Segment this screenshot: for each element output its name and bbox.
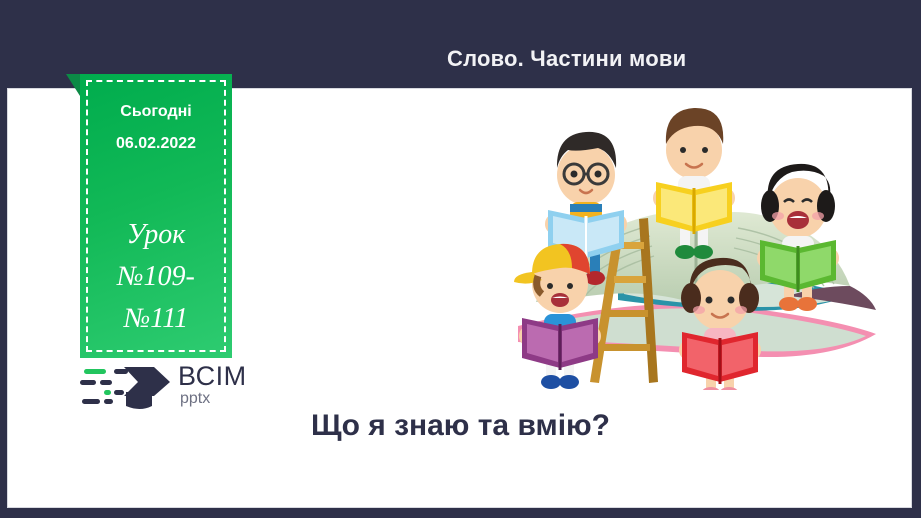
graduation-cap-icon	[80, 362, 172, 410]
badge-surface: Сьогодні 06.02.2022 Урок №109- №111	[80, 74, 232, 358]
badge-lesson-line-3: №111	[80, 298, 232, 340]
slide-title: Слово. Частини мови	[447, 46, 686, 72]
badge-fold-corner	[66, 74, 80, 96]
slide-question-text: Що я знаю та вмію?	[0, 409, 921, 443]
presentation-slide: Слово. Частини мови Сьогодні 06.02.2022 …	[0, 0, 921, 518]
logo-name: ВСІМ	[178, 362, 247, 390]
logo-text-block: ВСІМ pptx	[178, 362, 247, 407]
children-reading-books-illustration	[498, 90, 888, 390]
badge-lesson-line-1: Урок	[80, 214, 232, 256]
vsim-pptx-logo: ВСІМ pptx	[80, 362, 265, 410]
logo-suffix: pptx	[180, 390, 247, 407]
badge-today-block: Сьогодні 06.02.2022	[80, 96, 232, 160]
badge-lesson-line-2: №109-	[80, 256, 232, 298]
badge-lesson-block: Урок №109- №111	[80, 214, 232, 340]
badge-today-label: Сьогодні	[80, 96, 232, 128]
lesson-date-badge: Сьогодні 06.02.2022 Урок №109- №111	[80, 74, 232, 358]
badge-date-value: 06.02.2022	[80, 128, 232, 160]
